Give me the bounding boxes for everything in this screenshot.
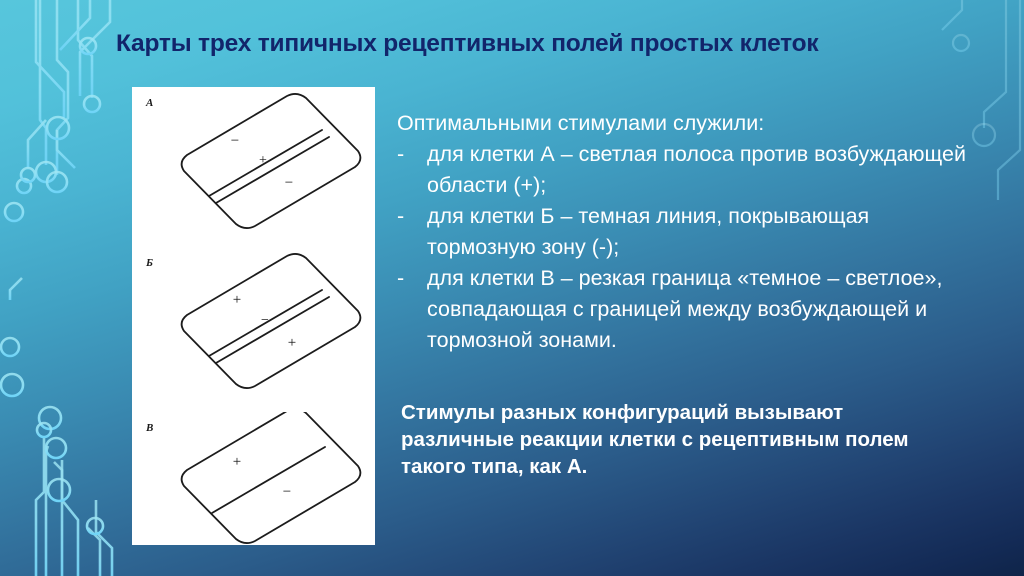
panel-v-label: В [146,422,153,434]
bullet-text-b: для клетки Б – темная линия, покрывающая… [427,201,972,263]
intro-line: Оптимальными стимулами служили: [397,108,972,139]
bullet-marker: - [397,139,427,170]
sign-plus-lower: + [288,335,296,351]
bullet-text-v: для клетки В – резкая граница «темное – … [427,263,972,356]
sign-minus-upper: − [231,133,239,149]
list-item: - для клетки В – резкая граница «темное … [397,263,972,356]
slide-canvas: Карты трех типичных рецептивных полей пр… [0,0,1024,576]
slide-title: Карты трех типичных рецептивных полей пр… [116,30,936,58]
sign-plus-left: + [233,454,241,470]
conclusion-text: Стимулы разных конфигураций вызывают раз… [401,399,961,480]
sign-plus-upper: + [233,292,241,308]
bullet-marker: - [397,263,427,294]
sign-minus-lower: − [285,175,293,191]
figure-panel: А − + − Б [132,87,375,545]
body-text-block: Оптимальными стимулами служили: - для кл… [397,108,972,356]
sign-plus-strip: + [259,153,267,168]
bullet-text-a: для клетки А – светлая полоса против воз… [427,139,972,201]
sign-minus-right: − [283,484,291,500]
receptive-field-v: В + − [132,412,375,545]
panel-b-label: Б [146,257,153,269]
sign-minus-strip: − [261,313,269,328]
receptive-field-b: Б + − + [132,247,375,407]
panel-a-label: А [146,97,153,109]
bullet-marker: - [397,201,427,232]
list-item: - для клетки А – светлая полоса против в… [397,139,972,201]
list-item: - для клетки Б – темная линия, покрывающ… [397,201,972,263]
receptive-field-a: А − + − [132,87,375,247]
